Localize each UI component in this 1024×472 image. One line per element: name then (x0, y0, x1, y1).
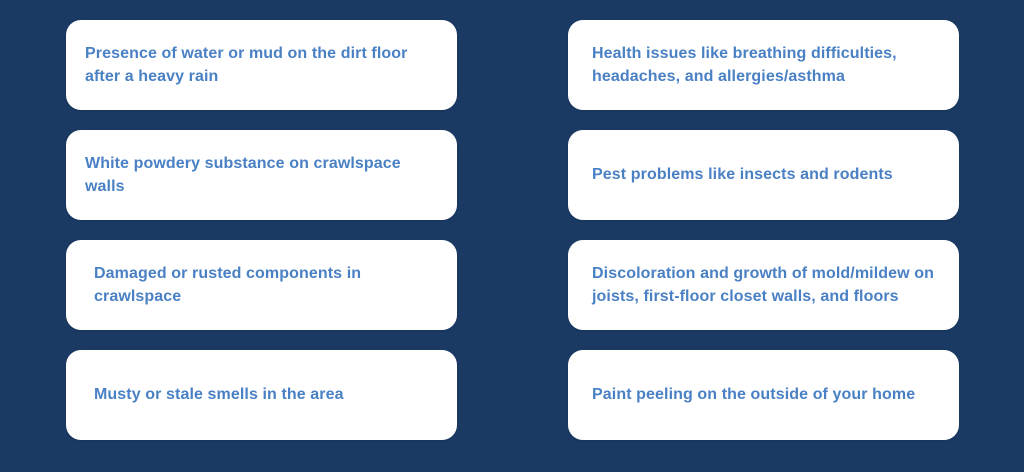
card-text: Paint peeling on the outside of your hom… (592, 383, 915, 406)
list-item[interactable]: Musty or stale smells in the area (66, 350, 457, 440)
card-text: Health issues like breathing difficultie… (592, 42, 939, 88)
card-text: Presence of water or mud on the dirt flo… (85, 42, 435, 88)
card-text: Damaged or rusted components in crawlspa… (94, 262, 435, 308)
left-column: Presence of water or mud on the dirt flo… (66, 20, 457, 472)
right-column: Health issues like breathing difficultie… (568, 20, 959, 472)
card-board: Presence of water or mud on the dirt flo… (0, 0, 1024, 472)
list-item[interactable]: Presence of water or mud on the dirt flo… (66, 20, 457, 110)
list-item[interactable]: Pest problems like insects and rodents (568, 130, 959, 220)
list-item[interactable]: Paint peeling on the outside of your hom… (568, 350, 959, 440)
list-item[interactable]: Damaged or rusted components in crawlspa… (66, 240, 457, 330)
card-text: Pest problems like insects and rodents (592, 163, 893, 186)
list-item[interactable]: White powdery substance on crawlspace wa… (66, 130, 457, 220)
list-item[interactable]: Health issues like breathing difficultie… (568, 20, 959, 110)
card-text: Discoloration and growth of mold/mildew … (592, 262, 939, 308)
card-text: Musty or stale smells in the area (94, 383, 344, 406)
list-item[interactable]: Discoloration and growth of mold/mildew … (568, 240, 959, 330)
card-text: White powdery substance on crawlspace wa… (85, 152, 435, 198)
